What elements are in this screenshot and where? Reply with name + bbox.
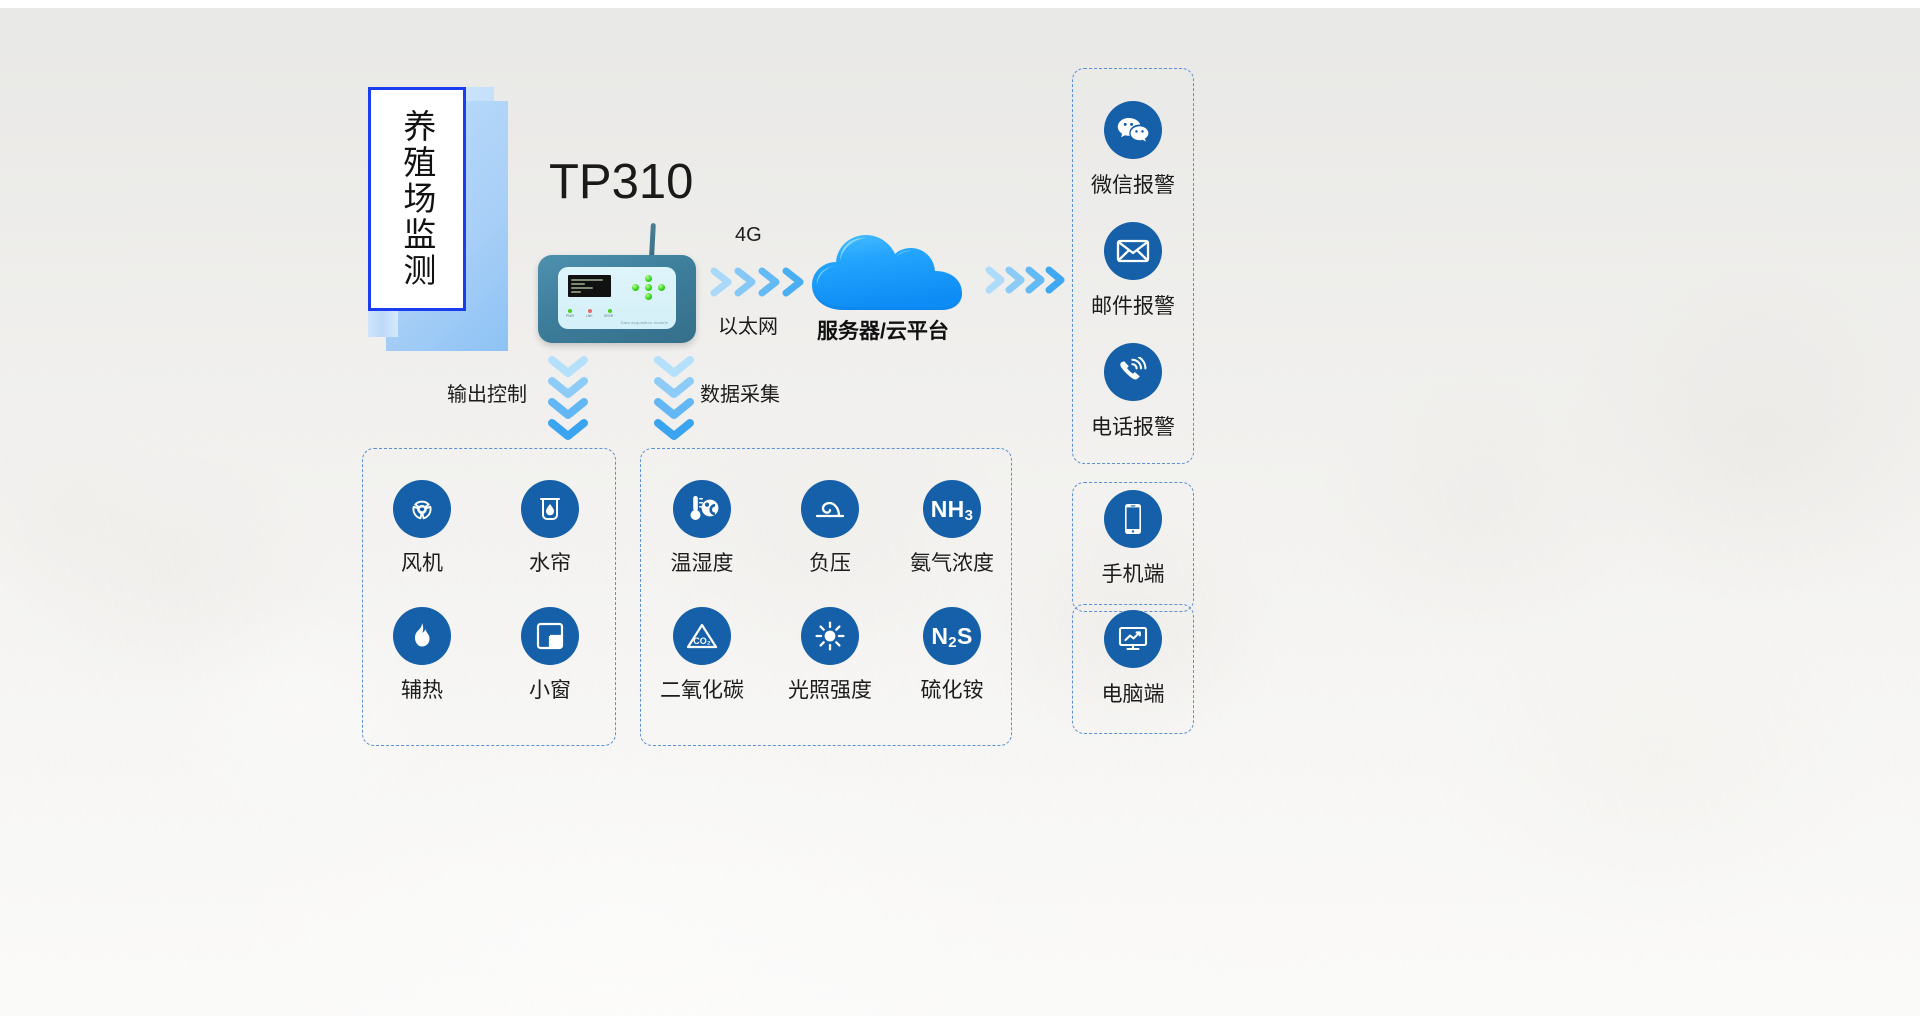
sensor-item-label: 光照强度 (780, 674, 880, 704)
sensor-item-ammonia[interactable]: NH3 氨气浓度 (902, 480, 1002, 577)
chem-text-icon: N2S (923, 607, 981, 665)
chevron-right-group-icon (985, 262, 1069, 298)
control-item-aux-heat[interactable]: 辅热 (372, 607, 472, 704)
diagram-canvas: 养殖场监测 TP310 (0, 0, 1920, 1028)
flame-heat-icon (393, 607, 451, 665)
sun-light-icon (801, 607, 859, 665)
alarm-item-wechat[interactable]: 微信报警 (1073, 101, 1193, 199)
sensor-item-label: 温湿度 (652, 547, 752, 577)
uplink-chevrons (709, 264, 809, 300)
box-front-face: 养殖场监测 (368, 87, 466, 311)
control-item-label: 辅热 (372, 674, 472, 704)
sensor-item-label: 硫化铵 (902, 674, 1002, 704)
sensor-item-temp-humidity[interactable]: 温湿度 (652, 480, 752, 577)
cloud-platform-icon (810, 226, 975, 312)
sensor-item-ammonium-sulfide[interactable]: N2S 硫化铵 (902, 607, 1002, 704)
output-control-label: 输出控制 (447, 378, 527, 407)
background-top-fade (0, 8, 1920, 128)
control-item-small-window[interactable]: 小窗 (500, 607, 600, 704)
cloud-platform-label: 服务器/云平台 (817, 315, 949, 345)
device-status-leds (632, 275, 666, 301)
device-lcd-screen (568, 275, 611, 297)
control-item-label: 风机 (372, 547, 472, 577)
co2-triangle-icon: CO₂ (673, 607, 731, 665)
control-item-label: 小窗 (500, 674, 600, 704)
control-item-label: 水帘 (500, 547, 600, 577)
fan-radiation-icon (393, 480, 451, 538)
monitor-chart-icon (1104, 610, 1162, 668)
chevron-right-group-icon (709, 264, 809, 300)
alarm-item-label: 微信报警 (1073, 169, 1193, 199)
control-item-fan[interactable]: 风机 (372, 480, 472, 577)
alarm-item-label: 邮件报警 (1073, 290, 1193, 320)
box-vertical-label: 养殖场监测 (399, 109, 435, 289)
sensor-item-light-intensity[interactable]: 光照强度 (780, 607, 880, 704)
device-model-title: TP310 (549, 154, 693, 210)
small-window-icon (521, 607, 579, 665)
sensor-item-label: 负压 (780, 547, 880, 577)
control-item-water-curtain[interactable]: 水帘 (500, 480, 600, 577)
sensor-item-negative-pressure[interactable]: 负压 (780, 480, 880, 577)
tp310-device: PWR LNK SRVR Data acquisition module (538, 223, 696, 343)
alarm-item-label: 电话报警 (1073, 411, 1193, 441)
device-front-panel: PWR LNK SRVR Data acquisition module (558, 267, 676, 329)
chevron-down-group-icon (650, 354, 698, 444)
output-control-chevrons (544, 354, 592, 444)
device-panel-text: Data acquisition module (621, 320, 668, 325)
data-collection-chevrons (650, 354, 698, 444)
wechat-icon (1104, 101, 1162, 159)
data-collection-label: 数据采集 (700, 378, 780, 407)
negative-pressure-icon (801, 480, 859, 538)
bottom-white-strip (0, 1016, 1920, 1028)
svg-text:CO₂: CO₂ (693, 636, 711, 646)
thermometer-humidity-icon (673, 480, 731, 538)
chem-formula-n2s: N2S (931, 625, 972, 648)
sensor-item-label: 二氧化碳 (652, 674, 752, 704)
device-indicator-row: PWR LNK SRVR (566, 309, 626, 321)
alarm-item-email[interactable]: 邮件报警 (1073, 222, 1193, 320)
water-curtain-icon (521, 480, 579, 538)
wireless-link-label: 4G (735, 224, 762, 247)
envelope-icon (1104, 222, 1162, 280)
phone-ring-icon (1104, 343, 1162, 401)
sensor-item-co2[interactable]: CO₂ 二氧化碳 (652, 607, 752, 704)
alarm-item-phone[interactable]: 电话报警 (1073, 343, 1193, 441)
chem-text-icon: NH3 (923, 480, 981, 538)
chevron-down-group-icon (544, 354, 592, 444)
sensor-item-label: 氨气浓度 (902, 547, 1002, 577)
smartphone-icon (1104, 490, 1162, 548)
chem-formula-nh3: NH3 (931, 498, 973, 521)
downlink-chevrons (985, 262, 1069, 298)
top-white-strip (0, 0, 1920, 8)
device-body: PWR LNK SRVR Data acquisition module (538, 255, 696, 343)
client-item-pc[interactable]: 电脑端 (1073, 610, 1193, 708)
farm-monitoring-box: 养殖场监测 (368, 87, 494, 337)
client-item-label: 电脑端 (1073, 678, 1193, 708)
wired-link-label: 以太网 (718, 310, 778, 339)
client-item-label: 手机端 (1073, 558, 1193, 588)
client-item-mobile[interactable]: 手机端 (1073, 490, 1193, 588)
